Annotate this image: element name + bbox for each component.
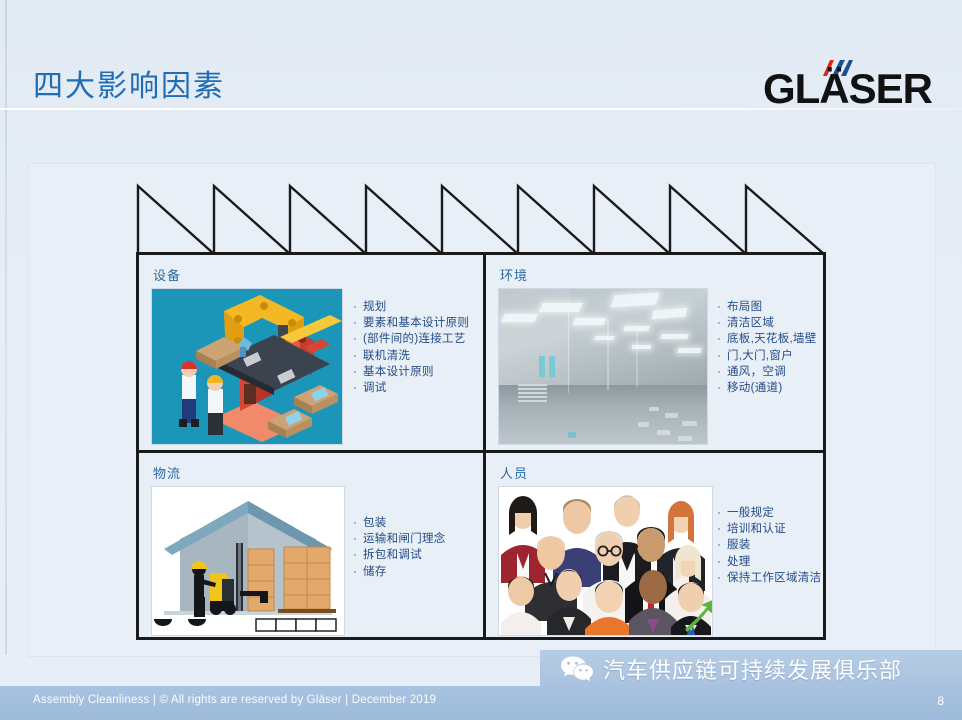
bullet-text: (部件间的)连接工艺 — [363, 333, 466, 345]
glaser-logo: GLÄSER — [732, 60, 932, 108]
bullet-text: 培训和认证 — [727, 523, 786, 535]
bullet-text: 门,大门,窗户 — [727, 350, 793, 362]
quadrant-label-equipment: 设备 — [153, 265, 181, 284]
bullet-text: 布局图 — [727, 301, 762, 313]
image-personnel — [498, 486, 713, 636]
bullet-text: 服装 — [727, 539, 751, 551]
bullet-text: 底板,天花板,墙壁 — [727, 333, 817, 345]
bullets-logistics: ·包装 ·运输和闸门理念 ·拆包和调试 ·储存 — [353, 515, 446, 580]
watermark-text: 汽车供应链可持续发展俱乐部 — [603, 653, 902, 685]
bullet-text: 要素和基本设计原则 — [363, 317, 469, 329]
page-title: 四大影响因素 — [33, 68, 225, 106]
quadrant-label-personnel: 人员 — [500, 463, 528, 482]
sawtooth-roof-icon — [136, 182, 826, 254]
bullet-text: 拆包和调试 — [363, 549, 422, 561]
quadrant-label-logistics: 物流 — [153, 463, 181, 482]
quadrant-logistics: 物流 — [139, 453, 483, 637]
bullets-personnel: ·一般规定 ·培训和认证 ·服装 ·处理 ·保持工作区域清洁 — [717, 505, 821, 586]
bullet-text: 移动(通道) — [727, 382, 782, 394]
bullets-environment: ·布局图 ·清洁区域 ·底板,天花板,墙壁 ·门,大门,窗户 ·通风，空调 ·移… — [717, 299, 817, 396]
image-environment — [498, 288, 708, 445]
wechat-watermark: 汽车供应链可持续发展俱乐部 — [560, 652, 902, 686]
slide-footer: Assembly Cleanliness | © All rights are … — [0, 686, 962, 720]
bullets-equipment: ·规划 ·要素和基本设计原则 ·(部件间的)连接工艺 ·联机清洗 ·基本设计原则… — [353, 299, 469, 396]
bullet-text: 规划 — [363, 301, 387, 313]
wechat-icon — [560, 655, 594, 683]
bullet-text: 储存 — [363, 566, 387, 578]
bullet-text: 运输和闸门理念 — [363, 533, 446, 545]
isometric-robot-illustration — [152, 289, 342, 444]
bullet-text: 基本设计原则 — [363, 366, 434, 378]
cleanroom-photo-illustration — [499, 289, 707, 444]
page-number: 8 — [937, 694, 944, 708]
quadrant-personnel: 人员 — [486, 453, 823, 637]
bullet-text: 处理 — [727, 556, 751, 568]
bullet-text: 保持工作区域清洁 — [727, 572, 821, 584]
bullet-text: 包装 — [363, 517, 387, 529]
slide-canvas: 四大影响因素 GLÄSER — [0, 0, 962, 720]
content-panel: 设备 — [28, 163, 936, 657]
quadrant-label-environment: 环境 — [500, 265, 528, 284]
bullet-text: 通风，空调 — [727, 366, 786, 378]
quadrant-environment: 环境 — [486, 255, 823, 450]
bullet-text: 一般规定 — [727, 507, 774, 519]
crowd-avatars-illustration — [499, 487, 712, 635]
image-equipment — [151, 288, 343, 445]
left-accent-rule — [5, 0, 7, 655]
bullet-text: 清洁区域 — [727, 317, 774, 329]
bullet-text: 联机清洗 — [363, 350, 410, 362]
bullet-text: 调试 — [363, 382, 387, 394]
factory-diagram: 设备 — [136, 182, 826, 640]
warehouse-illustration — [152, 487, 344, 635]
footer-text: Assembly Cleanliness | © All rights are … — [33, 694, 436, 706]
logo-wordmark: GLÄSER — [763, 68, 932, 110]
quadrant-equipment: 设备 — [139, 255, 483, 450]
image-logistics — [151, 486, 345, 636]
